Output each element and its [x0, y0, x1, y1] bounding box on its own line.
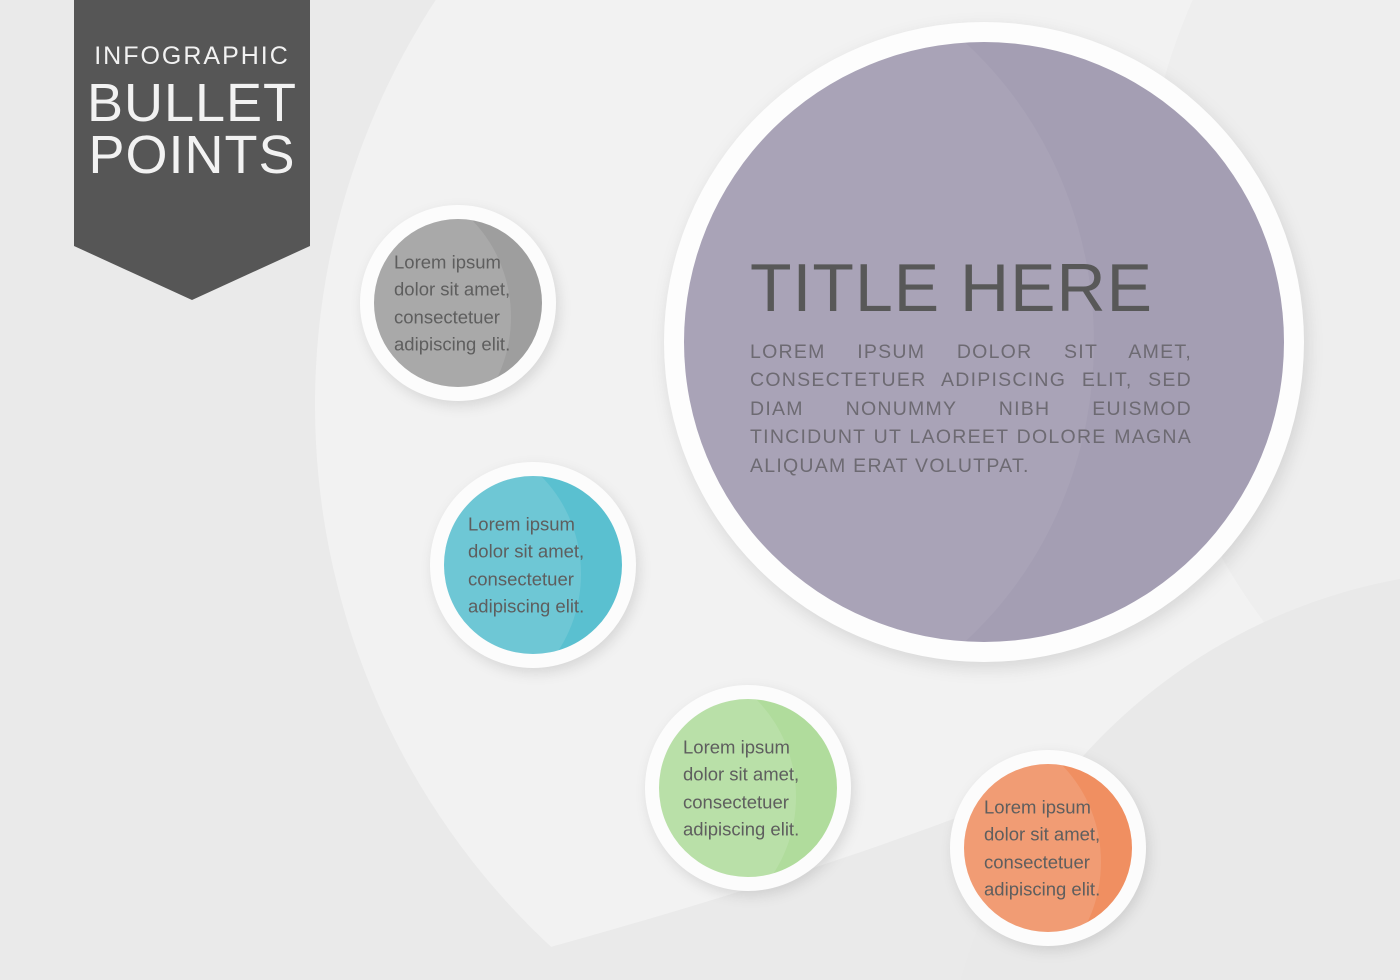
bullet-circle-2[interactable]: Lorem ipsum dolor sit amet, consectetuer… [430, 462, 636, 668]
banner-title-line-1: BULLET [84, 76, 300, 132]
bullet-circle-4[interactable]: Lorem ipsum dolor sit amet, consectetuer… [950, 750, 1146, 946]
hero-circle-text: TITLE HERE Lorem ipsum dolor sit amet, c… [750, 254, 1192, 480]
bullet-circle-3-label: Lorem ipsum dolor sit amet, consectetuer… [683, 733, 829, 843]
infographic-canvas: INFOGRAPHIC BULLET POINTS TITLE HERE Lor… [0, 0, 1400, 980]
banner-eyebrow: INFOGRAPHIC [84, 44, 300, 69]
bullet-circle-4-label: Lorem ipsum dolor sit amet, consectetuer… [984, 793, 1128, 903]
hero-circle[interactable]: TITLE HERE Lorem ipsum dolor sit amet, c… [664, 22, 1304, 662]
hero-title: TITLE HERE [750, 254, 1192, 322]
bullet-circle-1-label: Lorem ipsum dolor sit amet, consectetuer… [394, 248, 538, 358]
bullet-circle-2-label: Lorem ipsum dolor sit amet, consectetuer… [468, 510, 614, 620]
title-banner: INFOGRAPHIC BULLET POINTS [74, 0, 310, 300]
hero-body-text: Lorem ipsum dolor sit amet, consectetuer… [750, 338, 1192, 480]
banner-title-line-2: POINTS [84, 128, 300, 184]
bullet-circle-1[interactable]: Lorem ipsum dolor sit amet, consectetuer… [360, 205, 556, 401]
title-banner-text: INFOGRAPHIC BULLET POINTS [74, 44, 310, 183]
bullet-circle-3[interactable]: Lorem ipsum dolor sit amet, consectetuer… [645, 685, 851, 891]
